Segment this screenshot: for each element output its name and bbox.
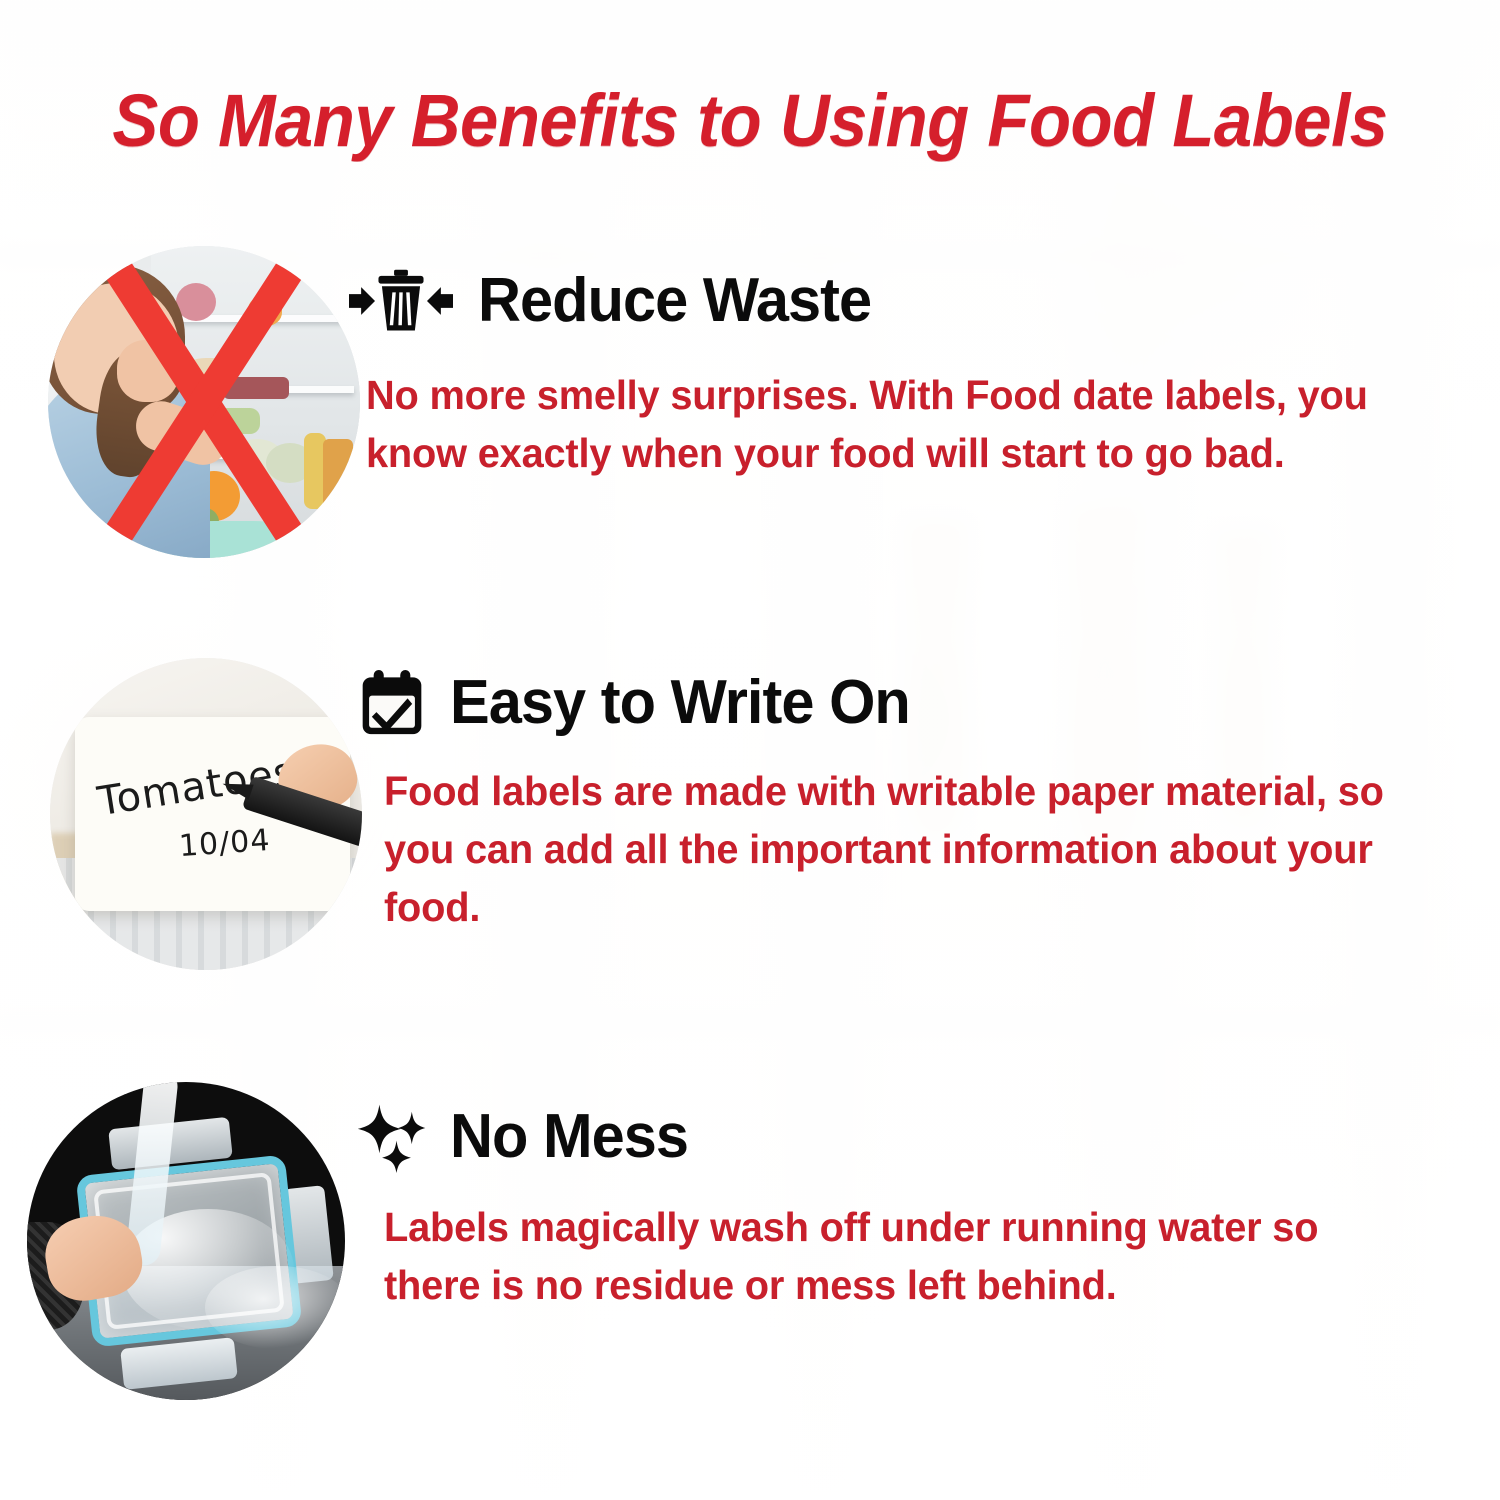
- trash-can-reduce-icon: [346, 266, 456, 336]
- handwritten-label-with-marker-photo: Tomatoes 10/04: [50, 658, 362, 970]
- calendar-check-icon: [356, 668, 428, 738]
- benefit-heading: No Mess: [450, 1106, 688, 1168]
- benefit-heading-row: No Mess: [356, 1094, 1456, 1180]
- benefit-heading: Easy to Write On: [450, 672, 910, 734]
- benefit-heading-row: Reduce Waste: [346, 258, 1446, 344]
- benefit-heading-row: Easy to Write On: [356, 660, 1456, 746]
- benefit-heading: Reduce Waste: [478, 270, 871, 332]
- sparkles-icon: [356, 1102, 428, 1172]
- label-date-text: 10/04: [178, 822, 272, 863]
- benefit-body: Labels magically wash off under running …: [384, 1198, 1412, 1314]
- woman-smelling-spoiled-food-in-fridge-photo: [48, 246, 360, 558]
- container-rinsed-under-running-water-photo: [27, 1082, 345, 1400]
- infographic-page: So Many Benefits to Using Food Labels: [0, 0, 1500, 1500]
- benefit-body: Food labels are made with writable paper…: [384, 762, 1441, 937]
- red-x-mark-overlay: [48, 246, 360, 558]
- benefit-body: No more smelly surprises. With Food date…: [366, 366, 1443, 482]
- page-title: So Many Benefits to Using Food Labels: [53, 84, 1448, 158]
